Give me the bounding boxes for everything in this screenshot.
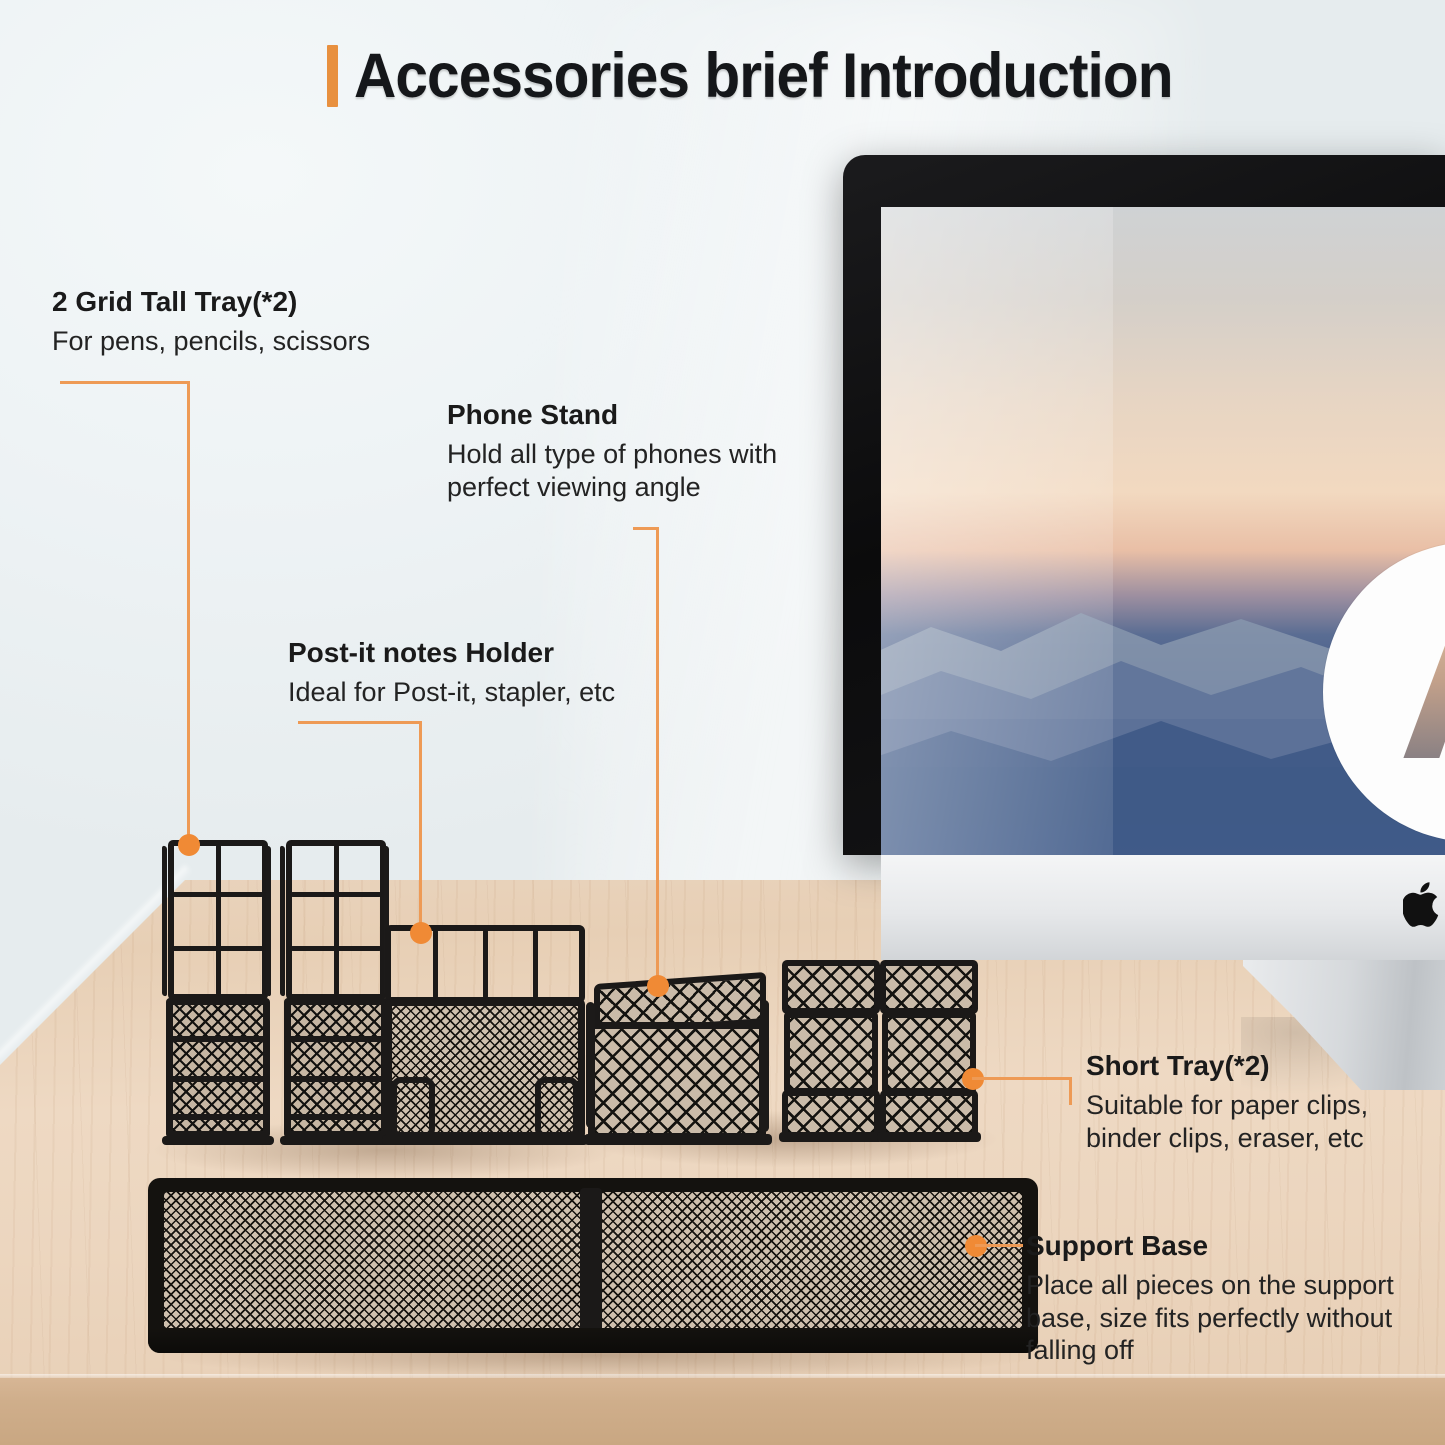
imac-monitor: A bbox=[843, 155, 1445, 855]
phone-stand-foot bbox=[584, 1134, 772, 1145]
tall-tray-2-divider bbox=[334, 844, 339, 996]
callout-short-tray-desc-line1: Suitable for paper clips, bbox=[1086, 1089, 1368, 1122]
tall-tray-2-band-3 bbox=[284, 1114, 388, 1120]
infographic-canvas: A Accessories brief Introduction bbox=[0, 0, 1445, 1445]
postit-holder-foot bbox=[382, 1135, 588, 1145]
callout-support-base-desc-line2: base, size fits perfectly without bbox=[1026, 1302, 1394, 1335]
callout-short-tray: Short Tray(*2) Suitable for paper clips,… bbox=[1086, 1049, 1368, 1154]
tall-tray-1-divider bbox=[216, 844, 221, 996]
tall-tray-1-band-2 bbox=[166, 1076, 270, 1082]
short-tray-1-interior bbox=[784, 1012, 878, 1094]
short-tray-1-back-wall bbox=[782, 960, 880, 1014]
leader-line-support-base-h bbox=[975, 1244, 1023, 1247]
support-base-panel-left bbox=[164, 1192, 584, 1338]
apple-logo bbox=[1403, 880, 1445, 928]
monitor-screen: A bbox=[881, 207, 1445, 855]
callout-tall-tray: 2 Grid Tall Tray(*2) For pens, pencils, … bbox=[52, 285, 370, 358]
callout-phone-stand-title: Phone Stand bbox=[447, 398, 777, 432]
leader-line-phone-stand-v bbox=[656, 527, 659, 984]
short-tray-1 bbox=[782, 960, 880, 1150]
support-base-center-divider bbox=[580, 1188, 602, 1342]
leader-dot-tall-tray bbox=[178, 834, 200, 856]
callout-support-base-desc-line1: Place all pieces on the support bbox=[1026, 1269, 1394, 1302]
callout-phone-stand: Phone Stand Hold all type of phones with… bbox=[447, 398, 777, 503]
callout-postit-holder: Post-it notes Holder Ideal for Post-it, … bbox=[288, 636, 615, 709]
support-base-front-lip bbox=[148, 1328, 1038, 1353]
postit-holder-div-2 bbox=[483, 929, 488, 999]
phone-stand-left-arm bbox=[586, 1002, 595, 1128]
short-tray-2-back-wall bbox=[880, 960, 978, 1014]
leader-line-postit-v bbox=[419, 721, 422, 930]
tall-tray-2-band-1 bbox=[284, 1036, 388, 1042]
support-base bbox=[148, 1178, 1038, 1353]
support-base-panel-right bbox=[600, 1192, 1022, 1338]
callout-support-base-title: Support Base bbox=[1026, 1229, 1394, 1263]
callout-postit-holder-title: Post-it notes Holder bbox=[288, 636, 615, 670]
short-tray-1-front-wall bbox=[782, 1090, 880, 1138]
short-tray-2-foot bbox=[877, 1132, 981, 1142]
leader-line-tall-tray-h bbox=[60, 381, 190, 384]
postit-notes-holder bbox=[385, 925, 585, 1150]
postit-holder-notch-right bbox=[535, 1077, 579, 1139]
tall-tray-2-foot bbox=[280, 1136, 392, 1145]
tall-tray-2-side-left bbox=[280, 845, 285, 996]
leader-dot-postit bbox=[410, 922, 432, 944]
callout-postit-holder-desc: Ideal for Post-it, stapler, etc bbox=[288, 676, 615, 709]
callout-support-base-desc-line3: falling off bbox=[1026, 1334, 1394, 1367]
title-text: Accessories brief Introduction bbox=[354, 40, 1173, 112]
short-tray-2-front-wall bbox=[880, 1090, 978, 1138]
callout-phone-stand-desc-line1: Hold all type of phones with bbox=[447, 438, 777, 471]
callout-short-tray-title: Short Tray(*2) bbox=[1086, 1049, 1368, 1083]
leader-line-short-tray-h bbox=[972, 1077, 1072, 1080]
tall-tray-1-band-1 bbox=[166, 1036, 270, 1042]
tall-tray-2 bbox=[278, 840, 393, 1150]
screen-glare bbox=[881, 207, 1113, 855]
postit-holder-div-3 bbox=[533, 929, 538, 999]
callout-support-base: Support Base Place all pieces on the sup… bbox=[1026, 1229, 1394, 1367]
tall-tray-1-band-3 bbox=[166, 1114, 270, 1120]
leader-dot-phone-stand bbox=[647, 975, 669, 997]
phone-stand-front-panel bbox=[588, 1022, 766, 1140]
desk-front-edge bbox=[0, 1378, 1445, 1445]
callout-tall-tray-desc: For pens, pencils, scissors bbox=[52, 325, 370, 358]
title-accent-bar bbox=[327, 45, 338, 107]
tall-tray-1-side-right bbox=[266, 845, 271, 996]
page-title: Accessories brief Introduction bbox=[327, 40, 1234, 112]
leader-line-tall-tray-v bbox=[187, 381, 190, 844]
callout-short-tray-desc-line2: binder clips, eraser, etc bbox=[1086, 1122, 1368, 1155]
postit-holder-notch-left bbox=[391, 1077, 435, 1139]
short-tray-1-foot bbox=[779, 1132, 883, 1142]
leader-line-postit-h bbox=[298, 721, 422, 724]
tall-tray-1 bbox=[160, 840, 275, 1150]
phone-stand bbox=[588, 978, 773, 1150]
brand-logo-glyph: A bbox=[1402, 582, 1445, 803]
short-tray-2 bbox=[880, 960, 978, 1150]
phone-stand-right-arm bbox=[760, 1000, 769, 1132]
tall-tray-1-side-left bbox=[162, 845, 167, 996]
callout-phone-stand-desc-line2: perfect viewing angle bbox=[447, 471, 777, 504]
tall-tray-2-band-2 bbox=[284, 1076, 388, 1082]
postit-holder-div-1 bbox=[433, 929, 438, 999]
monitor-chin bbox=[881, 855, 1445, 960]
tall-tray-1-foot bbox=[162, 1136, 274, 1145]
leader-line-short-tray-v bbox=[1069, 1077, 1072, 1105]
callout-tall-tray-title: 2 Grid Tall Tray(*2) bbox=[52, 285, 370, 319]
